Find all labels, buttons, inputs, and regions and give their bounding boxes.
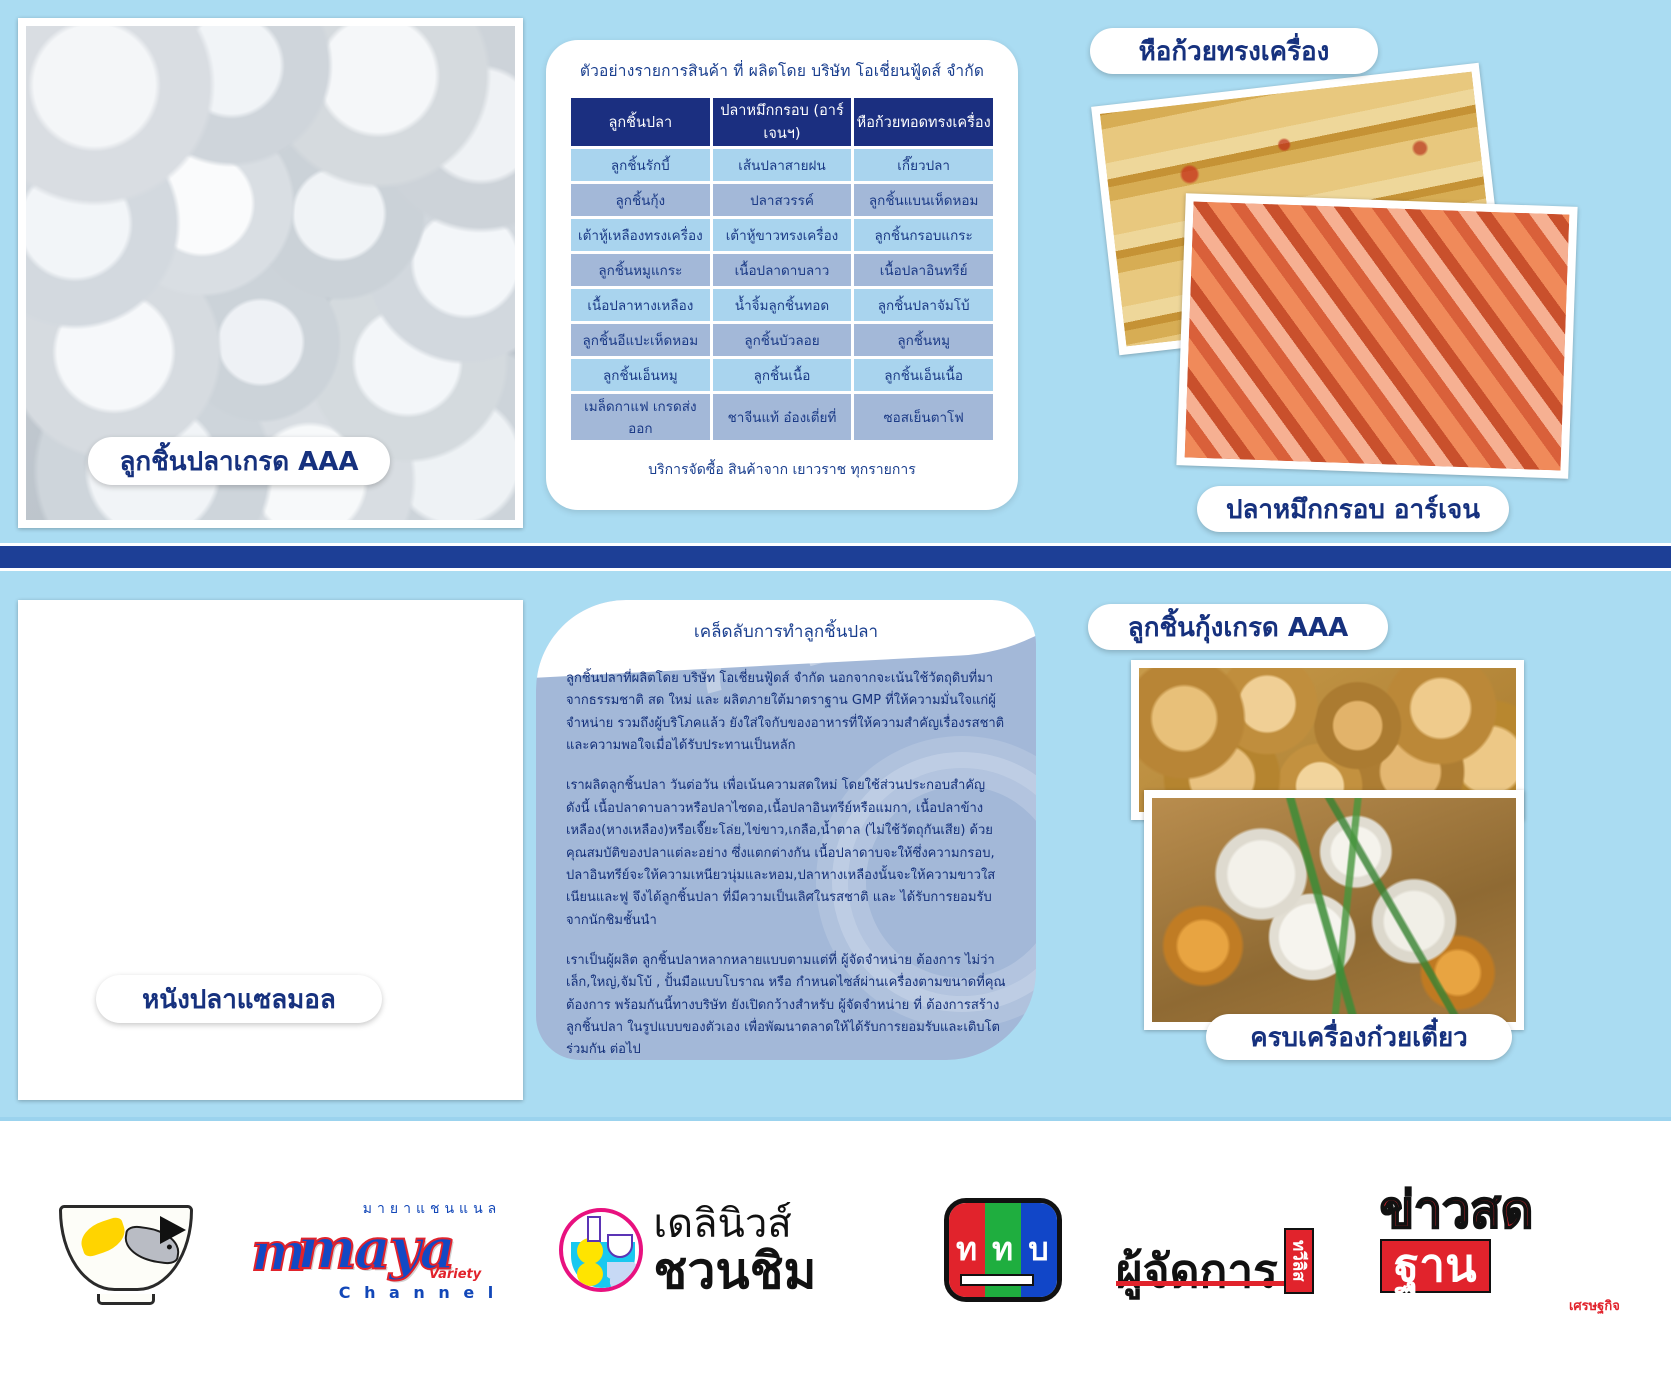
- product-table-title: ตัวอย่างรายการสินค้า ที่ ผลิตโดย บริษัท …: [568, 58, 996, 83]
- maya-variety-text: Variety: [429, 1267, 481, 1282]
- thansettakij-wordmark: ฐาน: [1394, 1241, 1477, 1289]
- table-header-col2: ปลาหมึกกรอบ (อาร์เจนฯ): [713, 98, 852, 146]
- manager-wordmark: ผู้จัดการ: [1116, 1248, 1278, 1294]
- badge-glass: [607, 1234, 633, 1258]
- table-cell: ปลาสวรรค์: [713, 184, 852, 216]
- table-cell: ลูกชิ้นหมู: [854, 324, 993, 356]
- table-cell: ลูกชิ้นบัวลอย: [713, 324, 852, 356]
- badge-egg-bottom: [577, 1262, 603, 1286]
- tips-paragraph: ลูกชิ้นปลาที่ผลิตโดย บริษัท โอเชี่ยนฟู้ด…: [566, 668, 1006, 757]
- table-cell: ชาจีนแท้ อ๋องเตี่ยที่: [713, 394, 852, 440]
- table-cell: ลูกชิ้นปลาจัมโบ้: [854, 289, 993, 321]
- table-cell: เต้าหู้เหลืองทรงเครื่อง: [571, 219, 710, 251]
- table-row: ลูกชิ้นรักบี้ เส้นปลาสายฝน เกี๊ยวปลา: [571, 149, 993, 181]
- table-cell: เนื้อปลาอินทรีย์: [854, 254, 993, 286]
- table-cell: ซอสเย็นตาโฟ: [854, 394, 993, 440]
- tips-paragraph: เราผลิตลูกชิ้นปลา วันต่อวัน เพื่อเน้นควา…: [566, 775, 1006, 932]
- dailynews-chuanchim-logo-icon: เดลินิวส์ ชวนชิม: [559, 1195, 889, 1305]
- table-cell: เมล็ดกาแฟ เกรดส่งออก: [571, 394, 710, 440]
- chuanchim-badge-icon: [559, 1208, 643, 1292]
- caption-squid: ปลาหมึกกรอบ อาร์เจน: [1197, 486, 1509, 532]
- tv5-white-bar: [960, 1274, 1034, 1286]
- table-row: ลูกชิ้นหมูแกระ เนื้อปลาดาบลาว เนื้อปลาอิ…: [571, 254, 993, 286]
- table-cell: ลูกชิ้นอีแปะเห็ดหอม: [571, 324, 710, 356]
- table-cell: น้ำจิ้มลูกชิ้นทอด: [713, 289, 852, 321]
- khaosod-thansettakij-logo-icon: ข่าวสด ฐาน เศรษฐกิจ: [1380, 1185, 1620, 1315]
- chuanchim-wordmark: ชวนชิม: [653, 1246, 816, 1296]
- table-cell: เนื้อปลาดาบลาว: [713, 254, 852, 286]
- table-header-col3: หือก้วยทอดทรงเครื่อง: [854, 98, 993, 146]
- logo-slot-maya: มายาแชนแนล m maya Variety C h a n n e l: [255, 1196, 505, 1304]
- table-cell: เกี๊ยวปลา: [854, 149, 993, 181]
- black-tail-icon: [160, 1216, 186, 1244]
- table-row: เต้าหู้เหลืองทรงเครื่อง เต้าหู้ขาวทรงเคร…: [571, 219, 993, 251]
- tips-paragraph: เราเป็นผู้ผลิต ลูกชิ้นปลาหลากหลายแบบตามแ…: [566, 950, 1006, 1062]
- thansettakij-block: ฐาน: [1380, 1239, 1491, 1293]
- product-table: ลูกชิ้นปลา ปลาหมึกกรอบ (อาร์เจนฯ) หือก้ว…: [568, 95, 996, 443]
- brochure-page: ลูกชิ้นปลาเกรด AAA ตัวอย่างรายการสินค้า …: [0, 0, 1671, 1382]
- table-cell: ลูกชิ้นเนื้อ: [713, 359, 852, 391]
- table-row: ลูกชิ้นอีแปะเห็ดหอม ลูกชิ้นบัวลอย ลูกชิ้…: [571, 324, 993, 356]
- table-cell: ลูกชิ้นรักบี้: [571, 149, 710, 181]
- table-cell: ลูกชิ้นหมูแกระ: [571, 254, 710, 286]
- manager-logo-icon: ผู้จัดการ ทวีลิส: [1116, 1206, 1326, 1294]
- section-divider: [0, 543, 1671, 571]
- caption-noodle-bowl: ครบเครื่องก๋วยเตี๋ยว: [1206, 1014, 1512, 1060]
- logo-slot-manager: ผู้จัดการ ทวีลิส: [1116, 1206, 1326, 1294]
- noodle-bowl-photo-inner: [1152, 798, 1516, 1022]
- caption-shrimp-ball: ลูกชิ้นกุ้งเกรด AAA: [1088, 604, 1388, 650]
- noodle-bowl-image: [1152, 798, 1516, 1022]
- squid-image: [1185, 202, 1570, 471]
- tips-card-title: เคล็ดลับการทำลูกชิ้นปลา: [536, 618, 1036, 645]
- table-header-col1: ลูกชิ้นปลา: [571, 98, 710, 146]
- badge-grapes: [607, 1262, 637, 1290]
- thansettakij-sub: เศรษฐกิจ: [1380, 1295, 1620, 1316]
- partner-logo-strip: มายาแชนแนล m maya Variety C h a n n e l: [0, 1117, 1671, 1382]
- squid-photo: [1176, 193, 1577, 479]
- manager-underline: [1116, 1281, 1284, 1286]
- product-table-body: ลูกชิ้นรักบี้ เส้นปลาสายฝน เกี๊ยวปลา ลูก…: [571, 149, 993, 440]
- logo-slot-khaosod: ข่าวสด ฐาน เศรษฐกิจ: [1380, 1185, 1620, 1315]
- manager-side-tag: ทวีลิส: [1284, 1228, 1314, 1294]
- caption-fish-ball: ลูกชิ้นปลาเกรด AAA: [88, 437, 390, 485]
- table-row: ลูกชิ้นกุ้ง ปลาสวรรค์ ลูกชิ้นแบนเห็ดหอม: [571, 184, 993, 216]
- tips-card-body: ลูกชิ้นปลาที่ผลิตโดย บริษัท โอเชี่ยนฟู้ด…: [566, 668, 1006, 1062]
- table-cell: ลูกชิ้นเอ็นเนื้อ: [854, 359, 993, 391]
- logo-slot-fish-bowl: [51, 1195, 201, 1305]
- table-cell: เต้าหู้ขาวทรงเครื่อง: [713, 219, 852, 251]
- maya-channel-logo-icon: มายาแชนแนล m maya Variety C h a n n e l: [255, 1196, 505, 1304]
- product-table-card: ตัวอย่างรายการสินค้า ที่ ผลิตโดย บริษัท …: [546, 40, 1018, 510]
- table-row: เมล็ดกาแฟ เกรดส่งออก ชาจีนแท้ อ๋องเตี่ยท…: [571, 394, 993, 440]
- yellow-fish-icon: [77, 1215, 130, 1258]
- maya-channel-text: C h a n n e l: [339, 1283, 497, 1302]
- product-table-head: ลูกชิ้นปลา ปลาหมึกกรอบ (อาร์เจนฯ) หือก้ว…: [571, 98, 993, 146]
- caption-hoi-kuai: หือก้วยทรงเครื่อง: [1090, 28, 1378, 74]
- bowl-foot: [97, 1294, 155, 1305]
- product-table-footnote: บริการจัดซื้อ สินค้าจาก เยาวราช ทุกรายกา…: [568, 459, 996, 481]
- salmon-skin-photo: [18, 600, 523, 1100]
- table-cell: เนื้อปลาหางเหลือง: [571, 289, 710, 321]
- table-header-row: ลูกชิ้นปลา ปลาหมึกกรอบ (อาร์เจนฯ) หือก้ว…: [571, 98, 993, 146]
- tv5-shield: ท ท บ: [944, 1198, 1062, 1302]
- noodle-bowl-photo: [1144, 790, 1524, 1030]
- table-row: เนื้อปลาหางเหลือง น้ำจิ้มลูกชิ้นทอด ลูกช…: [571, 289, 993, 321]
- table-cell: ลูกชิ้นแบนเห็ดหอม: [854, 184, 993, 216]
- table-cell: ลูกชิ้นกรอบแกระ: [854, 219, 993, 251]
- badge-cup: [587, 1216, 601, 1242]
- logo-slot-dailynews: เดลินิวส์ ชวนชิม: [559, 1195, 889, 1305]
- tv5-logo-icon: ท ท บ: [944, 1198, 1062, 1302]
- table-cell: เส้นปลาสายฝน: [713, 149, 852, 181]
- caption-salmon-skin: หนังปลาแซลมอล: [96, 975, 382, 1023]
- khaosod-wordmark: ข่าวสด: [1380, 1185, 1620, 1235]
- dailynews-wordmark: เดลินิวส์: [653, 1204, 816, 1244]
- table-row: ลูกชิ้นเอ็นหมู ลูกชิ้นเนื้อ ลูกชิ้นเอ็นเ…: [571, 359, 993, 391]
- table-cell: ลูกชิ้นกุ้ง: [571, 184, 710, 216]
- tips-card: เคล็ดลับการทำลูกชิ้นปลา ลูกชิ้นปลาที่ผลิ…: [536, 600, 1036, 1060]
- squid-photo-inner: [1185, 202, 1570, 471]
- logo-slot-tv5: ท ท บ: [944, 1198, 1062, 1302]
- dailynews-text-block: เดลินิวส์ ชวนชิม: [653, 1204, 816, 1296]
- table-cell: ลูกชิ้นเอ็นหมู: [571, 359, 710, 391]
- bowl-body: [59, 1205, 193, 1291]
- fish-bowl-logo-icon: [51, 1195, 201, 1305]
